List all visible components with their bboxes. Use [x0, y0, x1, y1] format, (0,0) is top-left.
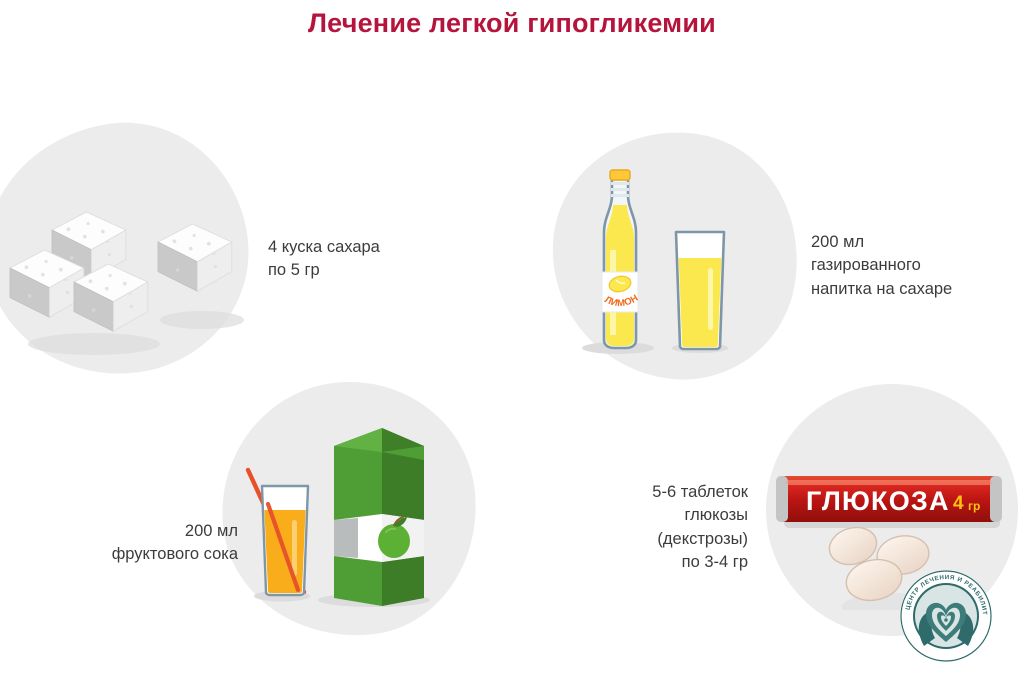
juice-carton-glass-icon — [234, 408, 454, 618]
glucose-tube-weight: 4 — [953, 493, 964, 514]
caption-sugar: 4 куска сахара по 5 гр — [268, 236, 380, 283]
infographic-page: Лечение легкой гипогликемии — [0, 0, 1024, 681]
caption-soda: 200 мл газированного напитка на сахаре — [811, 231, 952, 301]
glucose-tube-label: ГЛЮКОЗА — [806, 486, 950, 516]
page-title: Лечение легкой гипогликемии — [0, 8, 1024, 39]
caption-juice: 200 мл фруктового сока — [16, 520, 238, 567]
zdravnitsa-clinic-logo: ЦЕНТР ЛЕЧЕНИЯ И РЕАБИЛИТАЦИИ «ЗДРАВНИЦА» — [898, 568, 994, 664]
glucose-tube-weight-unit: гр — [968, 499, 980, 513]
sugar-cubes-icon — [6, 192, 256, 362]
soda-bottle-glass-icon: ЛИМОНАД — [566, 160, 766, 360]
caption-glucose: 5-6 таблеток глюкозы (декстрозы) по 3-4 … — [436, 481, 748, 575]
